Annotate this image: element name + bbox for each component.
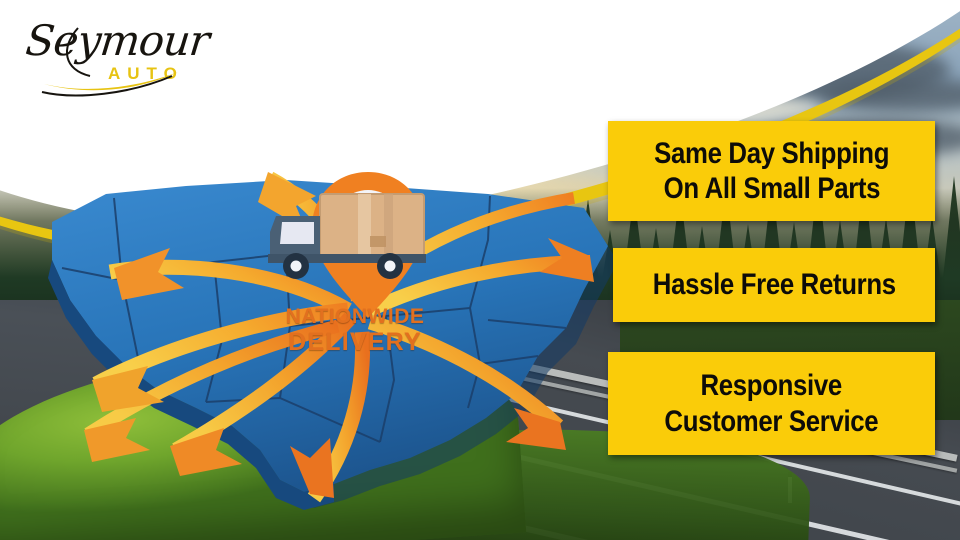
promo-banner-canvas: NATIONWIDE DELIVERY Seymour AUTO Same Da… <box>0 0 960 540</box>
logo-swoosh-icon <box>20 14 220 100</box>
caption-line-delivery: DELIVERY <box>255 329 455 356</box>
banner-text-line: Responsive <box>701 368 842 403</box>
feature-banner-hassle-free-returns[interactable]: Hassle Free Returns <box>613 248 935 322</box>
feature-banner-same-day-shipping[interactable]: Same Day Shipping On All Small Parts <box>608 121 935 221</box>
nationwide-delivery-caption: NATIONWIDE DELIVERY <box>255 306 455 356</box>
feature-banner-responsive-customer-service[interactable]: Responsive Customer Service <box>608 352 935 455</box>
brand-logo[interactable]: Seymour AUTO <box>20 14 220 100</box>
caption-line-nationwide: NATIONWIDE <box>255 306 455 329</box>
banner-text-line: Customer Service <box>665 404 879 439</box>
banner-text-line: Hassle Free Returns <box>653 267 896 302</box>
banner-text-line: Same Day Shipping <box>654 136 889 171</box>
banner-text-line: On All Small Parts <box>663 171 880 206</box>
